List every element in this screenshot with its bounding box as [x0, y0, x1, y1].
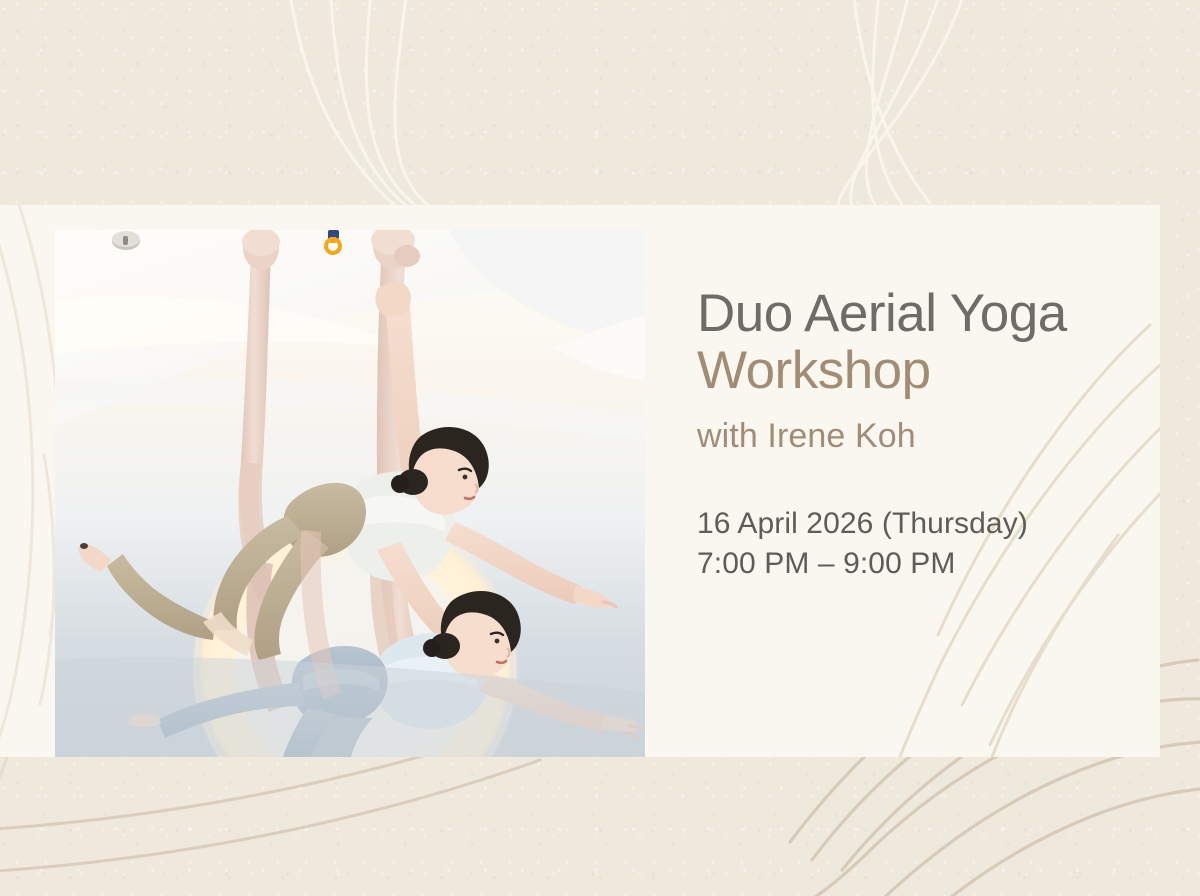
- event-details: 16 April 2026 (Thursday) 7:00 PM – 9:00 …: [697, 504, 1147, 584]
- workshop-photo: [55, 230, 645, 757]
- photo-scene: [55, 230, 645, 757]
- ceiling-mount-plate: [112, 231, 140, 250]
- photo-illustration: [55, 230, 645, 757]
- event-date: 16 April 2026 (Thursday): [697, 504, 1147, 544]
- event-time: 7:00 PM – 9:00 PM: [697, 544, 1147, 584]
- instructor-name: with Irene Koh: [697, 417, 1147, 456]
- title-line-1: Duo Aerial Yoga: [697, 284, 1067, 343]
- title-line-2: Workshop: [697, 342, 1147, 399]
- poster-canvas: Duo Aerial Yoga Workshop with Irene Koh …: [0, 0, 1200, 896]
- page-title: Duo Aerial Yoga Workshop: [697, 285, 1147, 399]
- text-column: Duo Aerial Yoga Workshop with Irene Koh …: [697, 285, 1147, 584]
